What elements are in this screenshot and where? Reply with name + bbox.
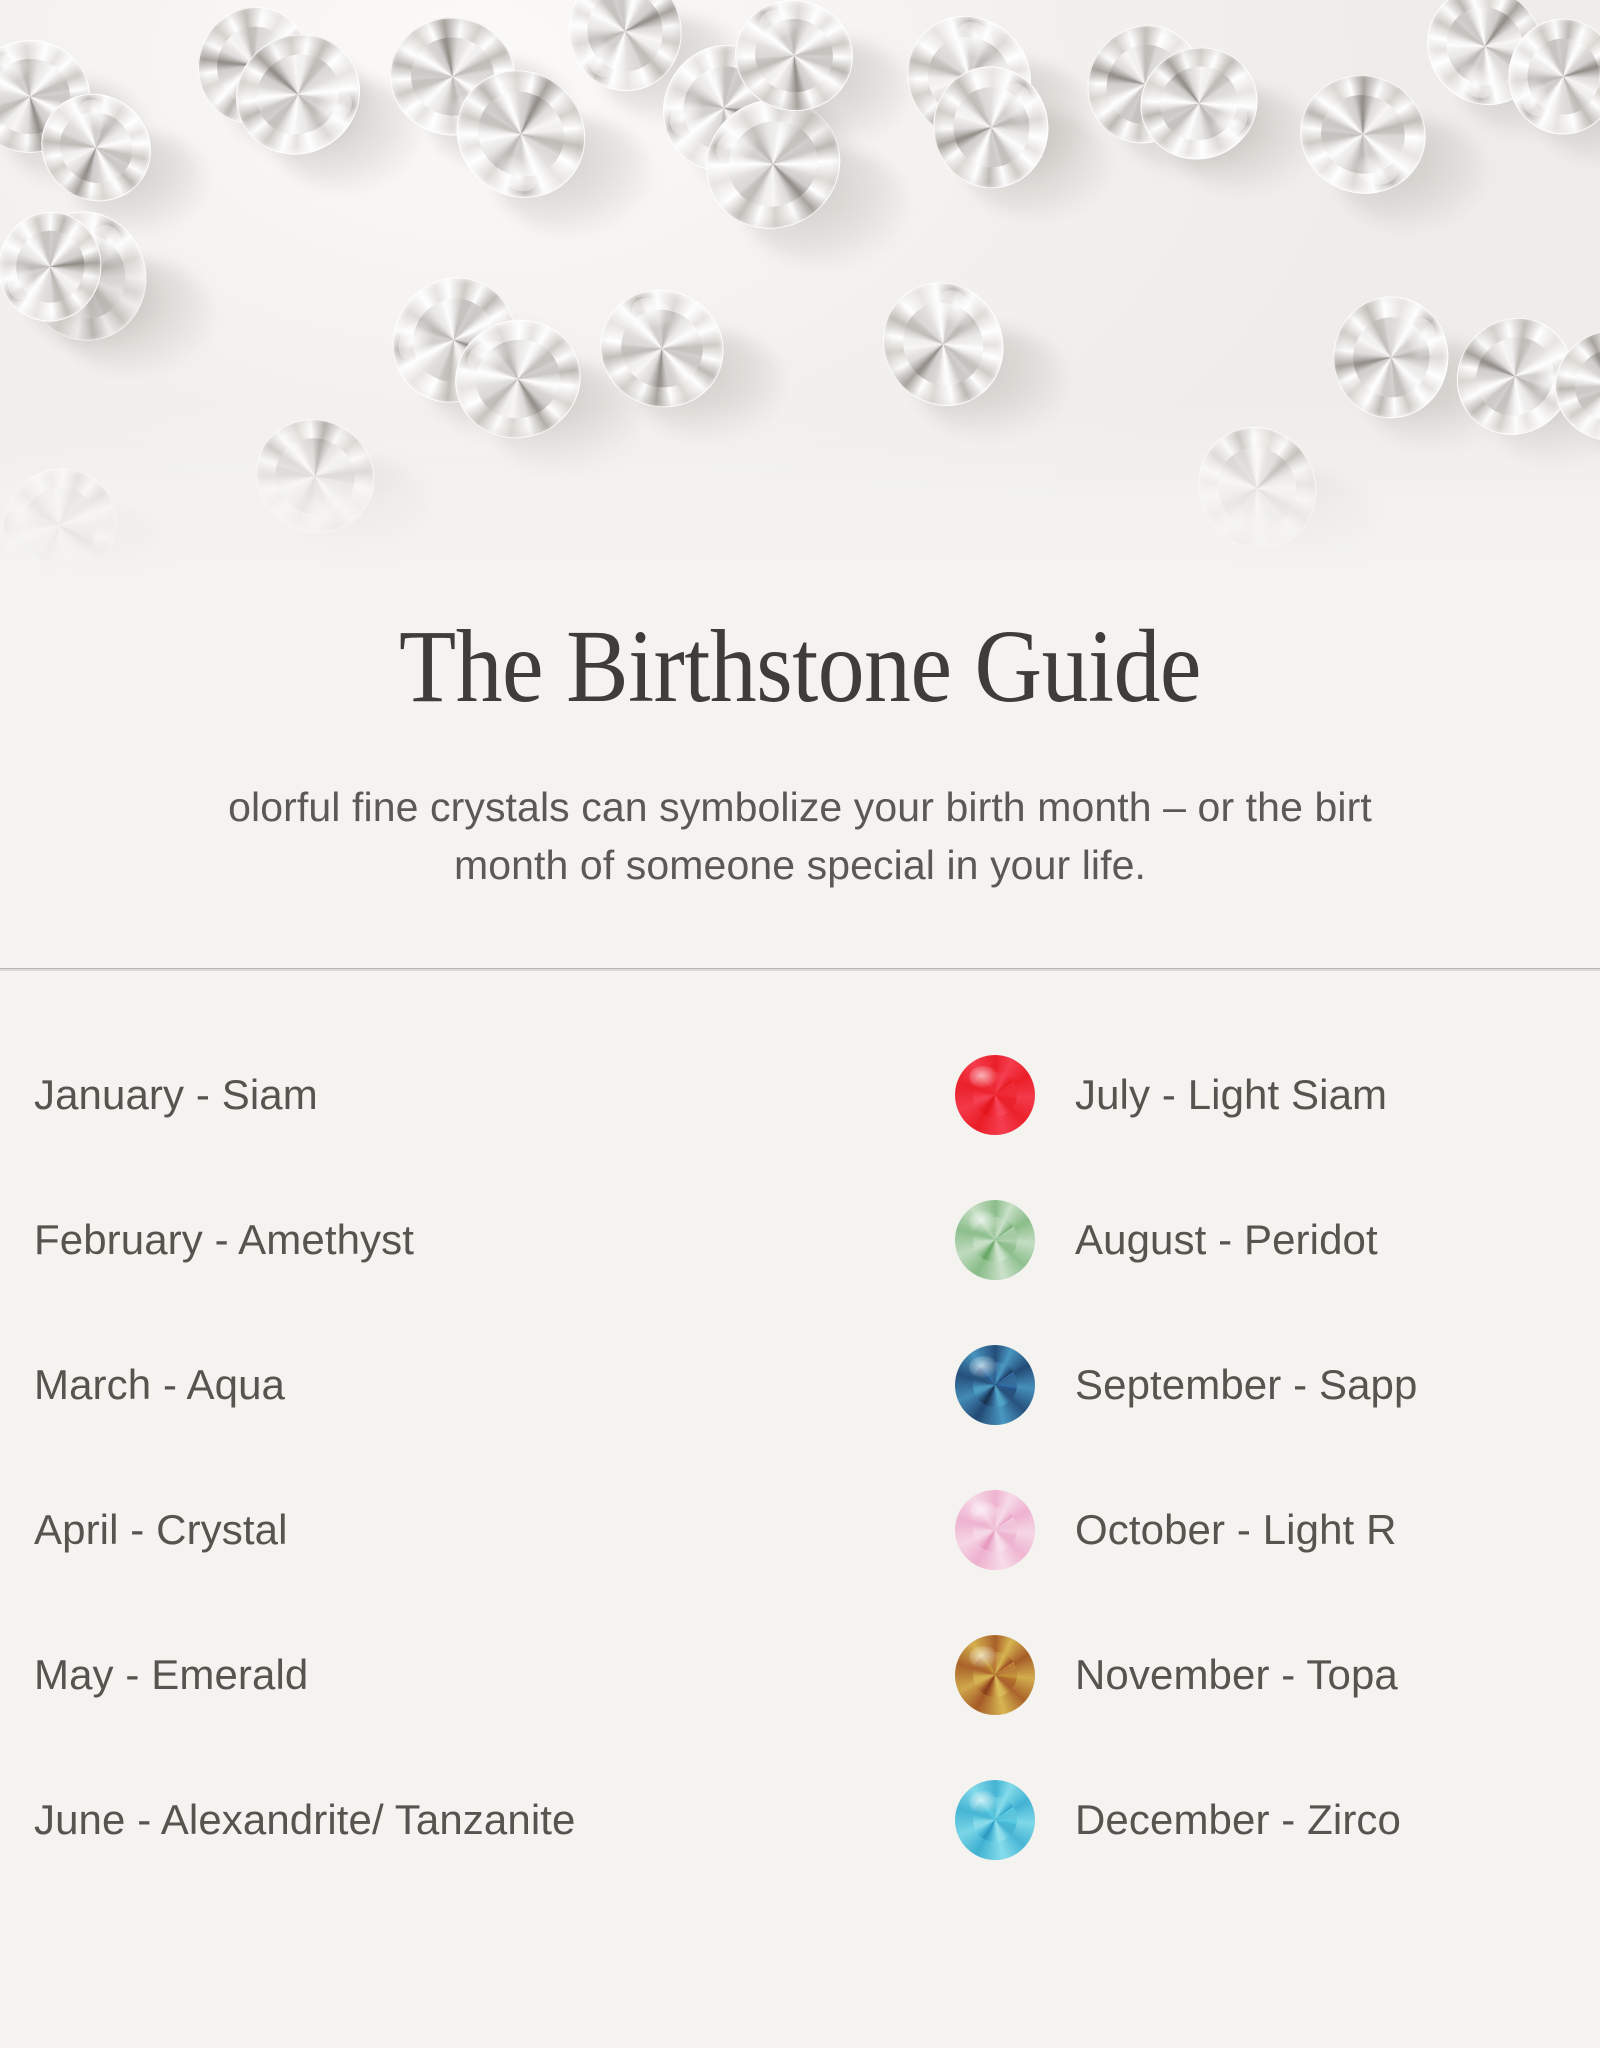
birthstone-guide-page: The Birthstone Guide olorful fine crysta… — [0, 0, 1600, 2048]
birthstone-row[interactable]: July - Light Siam — [955, 1022, 1600, 1167]
crystal-21 — [600, 290, 724, 414]
crystal-26 — [255, 420, 375, 540]
birthstone-list-left: January - SiamFebruary - AmethystMarch -… — [34, 1022, 934, 1892]
birthstone-label-february: February - Amethyst — [34, 1216, 414, 1264]
subtitle-line-2: month of someone special in your life. — [0, 836, 1600, 894]
gem-highlight — [969, 1646, 998, 1668]
birthstone-label-december: December - Zirco — [1075, 1796, 1401, 1844]
birthstone-row[interactable]: May - Emerald — [34, 1602, 934, 1747]
crystal-stone — [1507, 18, 1600, 136]
birthstone-label-may: May - Emerald — [34, 1651, 308, 1699]
birthstone-row[interactable]: March - Aqua — [34, 1312, 934, 1457]
crystal-18 — [1505, 22, 1600, 138]
birthstone-row[interactable]: October - Light R — [955, 1457, 1600, 1602]
crystal-22 — [880, 285, 1006, 411]
page-title: The Birthstone Guide — [80, 612, 1520, 722]
crystal-20 — [455, 320, 581, 446]
birthstone-row[interactable]: January - Siam — [34, 1022, 934, 1167]
birthstone-list-right: July - Light SiamAugust - PeridotSeptemb… — [955, 1022, 1600, 1892]
birthstone-row[interactable]: November - Topa — [955, 1602, 1600, 1747]
gem-highlight — [969, 1066, 998, 1088]
birthstone-label-april: April - Crystal — [34, 1506, 288, 1554]
gem-swatch-september-icon — [955, 1345, 1035, 1425]
birthstone-row[interactable]: April - Crystal — [34, 1457, 934, 1602]
birthstone-label-july: July - Light Siam — [1075, 1071, 1387, 1119]
crystal-15 — [1140, 48, 1258, 166]
birthstone-label-august: August - Peridot — [1075, 1216, 1378, 1264]
subtitle-line-1: olorful fine crystals can symbolize your… — [0, 778, 1600, 836]
clear-crystals-photo — [0, 0, 1600, 575]
birthstone-columns: January - SiamFebruary - AmethystMarch -… — [0, 1022, 1600, 1822]
crystal-11 — [735, 0, 853, 118]
crystal-25 — [1555, 330, 1600, 448]
birthstone-row[interactable]: December - Zirco — [955, 1747, 1600, 1892]
page-subtitle: olorful fine crystals can symbolize your… — [0, 778, 1600, 894]
birthstone-row[interactable]: September - Sapp — [955, 1312, 1600, 1457]
crystal-13 — [930, 70, 1052, 192]
gem-highlight — [969, 1791, 998, 1813]
crystal-29 — [0, 470, 118, 575]
birthstone-row[interactable]: February - Amethyst — [34, 1167, 934, 1312]
birthstone-label-march: March - Aqua — [34, 1361, 285, 1409]
birthstone-label-january: January - Siam — [34, 1071, 318, 1119]
crystal-16 — [1300, 75, 1426, 201]
gem-swatch-august-icon — [955, 1200, 1035, 1280]
birthstone-row[interactable]: June - Alexandrite/ Tanzanite — [34, 1747, 934, 1892]
horizontal-divider-shadow — [0, 969, 1600, 971]
crystal-27 — [1195, 430, 1319, 554]
birthstone-row[interactable]: August - Peridot — [955, 1167, 1600, 1312]
gem-highlight — [969, 1501, 998, 1523]
birthstone-label-june: June - Alexandrite/ Tanzanite — [34, 1796, 575, 1844]
crystal-5 — [235, 35, 361, 161]
gem-swatch-november-icon — [955, 1635, 1035, 1715]
birthstone-label-november: November - Topa — [1075, 1651, 1398, 1699]
birthstone-label-october: October - Light R — [1075, 1506, 1397, 1554]
gem-swatch-december-icon — [955, 1780, 1035, 1860]
birthstone-label-september: September - Sapp — [1075, 1361, 1417, 1409]
gem-highlight — [969, 1356, 998, 1378]
crystal-2 — [40, 95, 152, 207]
gem-swatch-october-icon — [955, 1490, 1035, 1570]
gem-highlight — [969, 1211, 998, 1233]
crystal-23 — [1330, 300, 1452, 422]
gem-swatch-july-icon — [955, 1055, 1035, 1135]
crystal-28 — [0, 215, 105, 325]
